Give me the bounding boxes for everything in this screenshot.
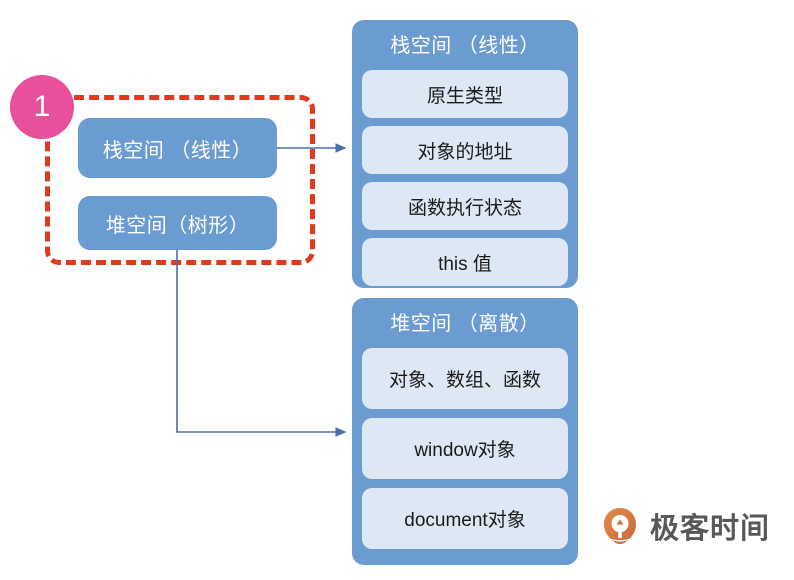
panel-item[interactable]: window对象 xyxy=(362,418,568,479)
geektime-logo-icon xyxy=(600,506,640,546)
stack-space-panel: 栈空间 （线性） 原生类型 对象的地址 函数执行状态 this 值 xyxy=(352,20,578,288)
panel-item[interactable]: 对象的地址 xyxy=(362,126,568,174)
panel-item[interactable]: this 值 xyxy=(362,238,568,286)
brand-name: 极客时间 xyxy=(650,505,770,547)
panel-item[interactable]: 对象、数组、函数 xyxy=(362,348,568,409)
heap-connector-line xyxy=(177,250,345,432)
stack-space-box-label: 栈空间 （线性） xyxy=(103,134,253,163)
panel-item[interactable]: 函数执行状态 xyxy=(362,182,568,230)
heap-space-box[interactable]: 堆空间（树形） xyxy=(78,196,277,250)
panel-item[interactable]: 原生类型 xyxy=(362,70,568,118)
heap-space-panel: 堆空间 （离散） 对象、数组、函数 window对象 document对象 xyxy=(352,298,578,565)
panel-item[interactable]: document对象 xyxy=(362,488,568,549)
heap-space-box-label: 堆空间（树形） xyxy=(106,209,250,238)
heap-panel-title: 堆空间 （离散） xyxy=(362,298,568,348)
brand-logo: 极客时间 xyxy=(600,505,770,547)
step-number-badge: 1 xyxy=(10,75,74,139)
stack-space-box[interactable]: 栈空间 （线性） xyxy=(78,118,277,178)
stack-panel-title: 栈空间 （线性） xyxy=(362,20,568,70)
